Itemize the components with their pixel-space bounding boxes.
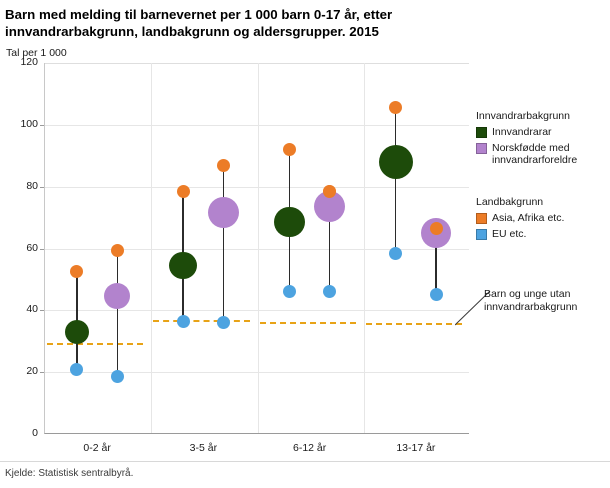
legend-innvandrarbakgrunn: Innvandrarbakgrunn Innvandrarar Norskfød…	[476, 110, 610, 170]
legend-item-asia-afrika[interactable]: Asia, Afrika etc.	[476, 212, 610, 225]
y-tick-label: 80	[4, 180, 38, 192]
source-note: Kjelde: Statistisk sentralbyrå.	[5, 468, 133, 479]
panel-separator	[258, 63, 259, 433]
data-point-eu-norskfodde[interactable]	[111, 370, 124, 383]
legend-swatch-icon	[476, 143, 487, 154]
legend-label-eu: EU etc.	[492, 228, 526, 241]
plot-area	[44, 63, 469, 434]
data-point-eu-innvandrarar[interactable]	[389, 247, 402, 260]
reference-line	[260, 322, 356, 324]
data-point-eu-innvandrarar[interactable]	[70, 363, 83, 376]
panel-separator	[364, 63, 365, 433]
data-point-asia-afrika-innvandrarar[interactable]	[389, 101, 402, 114]
y-tick-label: 20	[4, 365, 38, 377]
connector-stem	[395, 108, 396, 253]
legend-landbakgrunn: Landbakgrunn Asia, Afrika etc. EU etc.	[476, 196, 610, 243]
panel-separator	[151, 63, 152, 433]
legend-label-asia-afrika: Asia, Afrika etc.	[492, 212, 564, 225]
x-tick-label: 3-5 år	[153, 442, 253, 454]
legend-title-innvandrarbakgrunn: Innvandrarbakgrunn	[476, 110, 610, 122]
data-point-eu-norskfodde[interactable]	[217, 316, 230, 329]
data-point-innvandrarar[interactable]	[379, 145, 413, 179]
data-point-asia-afrika-norskfodde[interactable]	[217, 159, 230, 172]
chart-root: Barn med melding til barnevernet per 1 0…	[0, 0, 610, 488]
data-point-eu-norskfodde[interactable]	[323, 285, 336, 298]
reference-line	[366, 323, 462, 325]
connector-stem	[223, 165, 224, 323]
data-point-norskfodde[interactable]	[208, 197, 239, 228]
legend-swatch-icon	[476, 213, 487, 224]
data-point-innvandrarar[interactable]	[65, 320, 89, 344]
reference-line	[153, 320, 249, 322]
data-point-innvandrarar[interactable]	[274, 207, 305, 238]
data-point-norskfodde[interactable]	[104, 283, 130, 309]
data-point-asia-afrika-innvandrarar[interactable]	[70, 265, 83, 278]
legend-swatch-icon	[476, 229, 487, 240]
y-tick-label: 60	[4, 242, 38, 254]
data-point-asia-afrika-norskfodde[interactable]	[111, 244, 124, 257]
page-title: Barn med melding til barnevernet per 1 0…	[5, 6, 525, 40]
x-tick-label: 13-17 år	[366, 442, 466, 454]
y-tick-label: 100	[4, 118, 38, 130]
annotation-reference-line: Barn og unge utan innvandrarbakgrunn	[484, 288, 608, 313]
data-point-asia-afrika-innvandrarar[interactable]	[177, 185, 190, 198]
data-point-asia-afrika-norskfodde[interactable]	[323, 185, 336, 198]
legend-title-landbakgrunn: Landbakgrunn	[476, 196, 610, 208]
x-tick-label: 6-12 år	[260, 442, 360, 454]
y-tick-label: 40	[4, 303, 38, 315]
data-point-innvandrarar[interactable]	[169, 252, 197, 280]
x-tick-label: 0-2 år	[47, 442, 147, 454]
legend-item-norskfodde[interactable]: Norskfødde med innvandrarforeldre	[476, 142, 610, 167]
legend-item-eu[interactable]: EU etc.	[476, 228, 610, 241]
legend-item-innvandrarar[interactable]: Innvandrarar	[476, 126, 610, 139]
data-point-asia-afrika-norskfodde[interactable]	[430, 222, 443, 235]
reference-line	[47, 343, 143, 345]
legend-label-innvandrarar: Innvandrarar	[492, 126, 552, 139]
data-point-asia-afrika-innvandrarar[interactable]	[283, 143, 296, 156]
y-tick-label: 120	[4, 56, 38, 68]
connector-stem	[117, 250, 118, 377]
y-tick-label: 0	[4, 427, 38, 439]
data-point-eu-innvandrarar[interactable]	[177, 315, 190, 328]
data-point-eu-innvandrarar[interactable]	[283, 285, 296, 298]
footer-divider	[0, 461, 610, 462]
legend-swatch-icon	[476, 127, 487, 138]
data-point-eu-norskfodde[interactable]	[430, 288, 443, 301]
legend-label-norskfodde: Norskfødde med innvandrarforeldre	[492, 142, 610, 167]
